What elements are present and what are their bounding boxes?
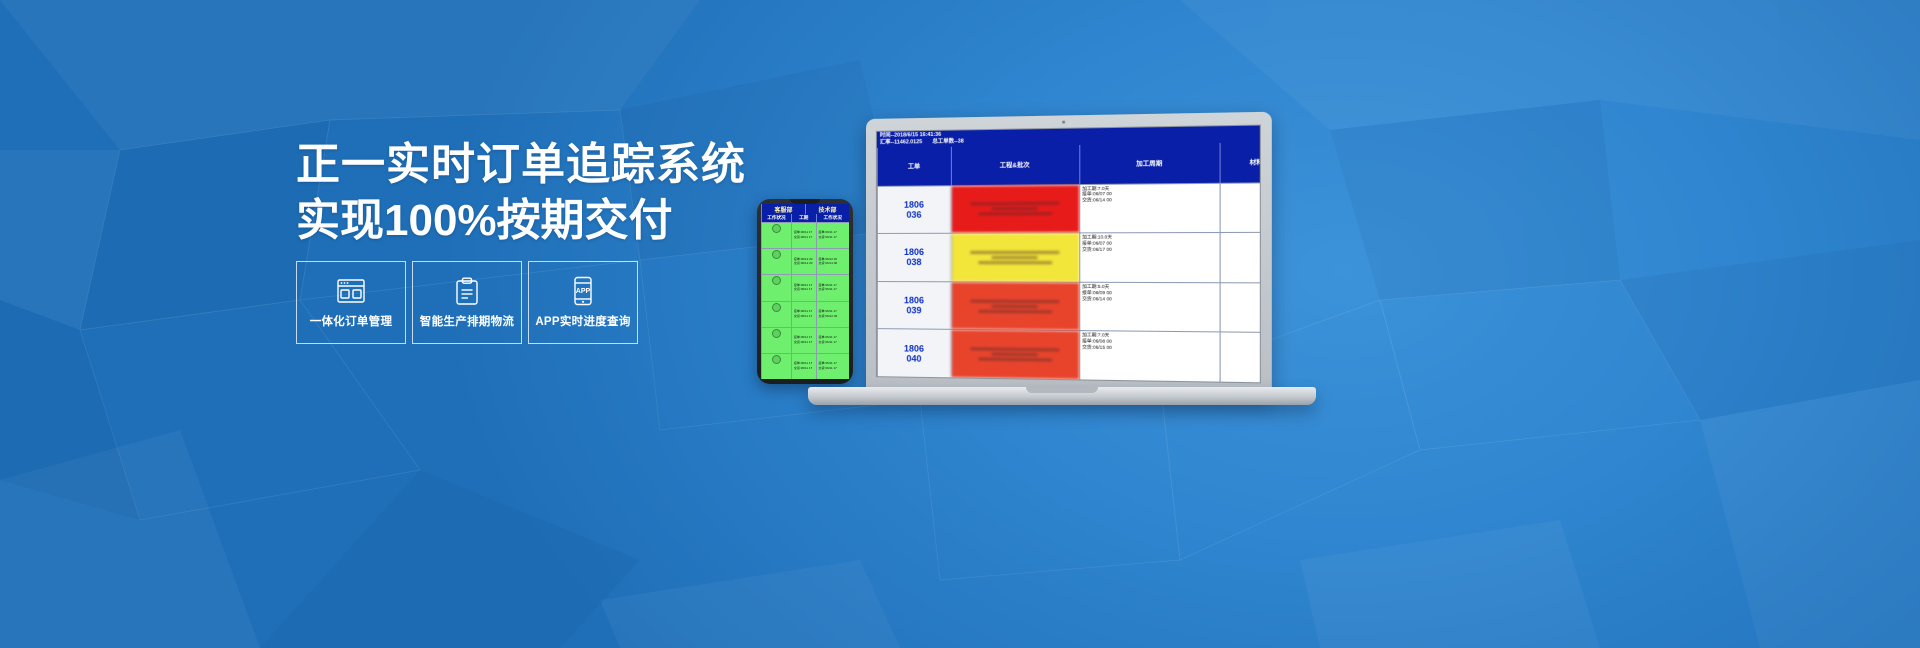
- phone-status2-line-2: 交货:06/11 17: [819, 367, 837, 371]
- phone-subcol-2: 工期: [791, 214, 816, 222]
- phone-status2-line-2: 交货:06/11 17: [819, 236, 837, 240]
- status-dot-green: [772, 329, 781, 338]
- phone-chassis: 客服部技术部工作状况工期工作状况接单:06/11 17交货:06/11 17接单…: [757, 199, 853, 384]
- list-item[interactable]: 接单:06/11 17交货:06/11 17接单:06/11 17交货:06/1…: [761, 274, 849, 300]
- material-cell[interactable]: [1220, 233, 1261, 282]
- page-subtitle: 实现100%按期交付: [296, 193, 716, 249]
- feature-card-app-progress[interactable]: APP APP实时进度查询: [528, 261, 638, 344]
- feature-list: 一体化订单管理 智能生产排期物流 APP APP实时进度查询: [296, 261, 638, 344]
- material-cell[interactable]: [1220, 333, 1261, 383]
- phone-row-group: 接单:06/11 17交货:06/11 17接单:06/11 17交货:06/1…: [761, 222, 849, 379]
- order-number-cell[interactable]: 1806039: [877, 282, 951, 329]
- phone-erp-table[interactable]: 客服部技术部工作状况工期工作状况接单:06/11 17交货:06/11 17接单…: [761, 204, 849, 379]
- erp-col-材料: 材料: [1220, 141, 1261, 182]
- phone-status-cell-1[interactable]: [761, 328, 791, 353]
- erp-column-header-row: 工单工程&批次加工周期材料工期工作状况工期工作状况工期工作状况工期工作状况工期工…: [877, 142, 1260, 185]
- material-cell[interactable]: [1220, 183, 1261, 232]
- phone-dept-header-2: 技术部: [805, 204, 849, 214]
- phone-status-cell-1[interactable]: [761, 223, 791, 248]
- status-dot-green: [772, 224, 781, 233]
- hero-copy: 正一实时订单追踪系统 实现100%按期交付: [296, 137, 716, 249]
- phone-status-cell-2[interactable]: 接单:06/12 20交货:06/14 08: [816, 249, 849, 274]
- erp-col-加工周期: 加工周期: [1079, 142, 1220, 183]
- processing-cycle-cell[interactable]: 加工期:7.0天接单:06/07 00交货:06/14 00: [1079, 183, 1220, 232]
- order-number-bottom: 040: [906, 353, 921, 363]
- phone-status-line-2: 交货:06/12 20: [794, 262, 813, 266]
- feature-card-production-scheduling[interactable]: 智能生产排期物流: [412, 261, 522, 344]
- list-item[interactable]: 接单:06/11 17交货:06/11 17接单:06/11 17交货:06/1…: [761, 327, 849, 353]
- feature-label: 一体化订单管理: [310, 313, 393, 329]
- phone-term-cell[interactable]: 接单:06/11 17交货:06/11 17: [791, 328, 816, 353]
- laptop-mockup: 时间--2018/6/15 16:41:36汇率--11462.0125总工单数…: [866, 119, 1316, 419]
- processing-cycle-cell[interactable]: 加工期:7.0天接单:06/08 00交货:06/15 00: [1079, 331, 1220, 381]
- webcam-icon: [1062, 121, 1065, 124]
- phone-status-line-2: 交货:06/11 17: [794, 288, 812, 292]
- order-number-bottom: 039: [906, 305, 921, 315]
- cycle-line-3: 交货:06/15 00: [1082, 345, 1112, 352]
- phone-status-line-2: 交货:06/11 17: [794, 367, 812, 371]
- phone-status2-line-2: 交货:06/11 17: [819, 341, 837, 345]
- phone-status-cell-2[interactable]: 接单:06/11 17交货:06/12 09: [816, 302, 849, 327]
- processing-cycle-cell[interactable]: 加工期:10.0天接单:06/07 00交货:06/17 00: [1079, 233, 1220, 282]
- feature-label: 智能生产排期物流: [420, 313, 514, 329]
- phone-subcol-3: 工作状况: [816, 214, 849, 222]
- project-batch-cell[interactable]: [950, 234, 1078, 282]
- erp-col-工程&批次: 工程&批次: [950, 144, 1078, 184]
- feature-label: APP实时进度查询: [535, 313, 630, 329]
- phone-status-line-2: 交货:06/11 17: [794, 236, 812, 240]
- cycle-line-3: 交货:06/14 00: [1082, 296, 1112, 302]
- phone-subcol-1: 工作状况: [761, 214, 791, 222]
- dashboard-icon: [336, 276, 366, 306]
- phone-mockup: 客服部技术部工作状况工期工作状况接单:06/11 17交货:06/11 17接单…: [757, 199, 853, 384]
- table-row[interactable]: 1806036加工期:7.0天接单:06/07 00交货:06/14 00接单:…: [877, 182, 1260, 233]
- phone-status-cell-2[interactable]: 接单:06/11 17交货:06/11 17: [816, 328, 849, 353]
- phone-screen[interactable]: 客服部技术部工作状况工期工作状况接单:06/11 17交货:06/11 17接单…: [761, 204, 849, 379]
- mobile-app-icon: APP: [572, 276, 594, 306]
- phone-notch: [790, 199, 820, 204]
- phone-term-cell[interactable]: 接单:06/12 20交货:06/12 20: [791, 249, 816, 274]
- phone-term-cell[interactable]: 接单:06/11 17交货:06/11 17: [791, 275, 816, 300]
- erp-row-group: 1806036加工期:7.0天接单:06/07 00交货:06/14 00接单:…: [877, 182, 1260, 382]
- table-row[interactable]: 1806038加工期:10.0天接单:06/07 00交货:06/17 00接单…: [877, 232, 1260, 282]
- cycle-line-3: 交货:06/14 00: [1082, 198, 1112, 204]
- phone-term-cell[interactable]: 接单:06/11 17交货:06/11 17: [791, 302, 816, 327]
- laptop-base: [808, 387, 1316, 405]
- cycle-line-3: 交货:06/17 00: [1082, 247, 1112, 253]
- erp-order-tracking-table[interactable]: 时间--2018/6/15 16:41:36汇率--11462.0125总工单数…: [877, 126, 1260, 383]
- phone-status2-line-2: 交货:06/11 17: [819, 288, 837, 292]
- table-row[interactable]: 1806039加工期:5.0天接单:06/09 00交货:06/14 00接单:…: [877, 281, 1260, 332]
- clipboard-icon: [454, 276, 480, 306]
- status-dot-green: [772, 276, 781, 285]
- laptop-lid: 时间--2018/6/15 16:41:36汇率--11462.0125总工单数…: [866, 112, 1272, 399]
- order-number-cell[interactable]: 1806036: [877, 186, 951, 233]
- order-number-bottom: 036: [906, 209, 921, 219]
- order-number-top: 1806: [904, 343, 924, 353]
- list-item[interactable]: 接单:06/12 20交货:06/12 20接单:06/12 20交货:06/1…: [761, 248, 849, 274]
- project-batch-cell[interactable]: [950, 185, 1078, 233]
- erp-col-工单: 工单: [877, 146, 951, 185]
- status-dot-green: [772, 303, 781, 312]
- material-cell[interactable]: [1220, 283, 1261, 333]
- feature-card-order-management[interactable]: 一体化订单管理: [296, 261, 406, 344]
- svg-text:APP: APP: [576, 288, 591, 295]
- phone-status-cell-2[interactable]: 接单:06/11 17交货:06/11 17: [816, 223, 849, 248]
- phone-term-cell[interactable]: 接单:06/11 17交货:06/11 17: [791, 223, 816, 248]
- order-number-cell[interactable]: 1806038: [877, 234, 951, 281]
- erp-rate-label: 汇率--11462.0125: [880, 139, 922, 146]
- order-number-top: 1806: [904, 247, 924, 257]
- phone-dept-header-1: 客服部: [761, 204, 805, 214]
- order-number-top: 1806: [904, 199, 924, 209]
- phone-status-line-2: 交货:06/11 17: [794, 315, 812, 319]
- erp-total-orders-label: 总工单数--38: [932, 138, 963, 145]
- phone-status-cell-1[interactable]: [761, 249, 791, 274]
- status-dot-green: [772, 355, 781, 364]
- phone-status-cell-1[interactable]: [761, 302, 791, 327]
- phone-status2-line-2: 交货:06/12 09: [819, 315, 838, 319]
- trackpad-notch: [1026, 387, 1098, 393]
- project-batch-cell[interactable]: [950, 282, 1078, 330]
- phone-status2-line-2: 交货:06/14 08: [819, 262, 838, 266]
- laptop-screen[interactable]: 时间--2018/6/15 16:41:36汇率--11462.0125总工单数…: [876, 125, 1261, 384]
- table-row[interactable]: 1806040加工期:7.0天接单:06/08 00交货:06/15 00空 1…: [877, 328, 1260, 382]
- list-item[interactable]: 接单:06/11 17交货:06/11 17接单:06/11 17交货:06/1…: [761, 353, 849, 379]
- order-number-bottom: 038: [906, 257, 921, 267]
- order-number-top: 1806: [904, 295, 924, 305]
- phone-erp-dept-bar: 客服部技术部: [761, 204, 849, 214]
- phone-column-header-row: 工作状况工期工作状况: [761, 214, 849, 222]
- phone-status-cell-2[interactable]: 接单:06/11 17交货:06/11 17: [816, 354, 849, 379]
- list-item[interactable]: 接单:06/11 17交货:06/11 17接单:06/11 17交货:06/1…: [761, 222, 849, 248]
- status-dot-green: [772, 250, 781, 259]
- page-title: 正一实时订单追踪系统: [296, 137, 716, 193]
- phone-status-cell-1[interactable]: [761, 275, 791, 300]
- processing-cycle-cell[interactable]: 加工期:5.0天接单:06/09 00交货:06/14 00: [1079, 283, 1220, 332]
- phone-status-line-2: 交货:06/11 17: [794, 341, 812, 345]
- list-item[interactable]: 接单:06/11 17交货:06/11 17接单:06/11 17交货:06/1…: [761, 301, 849, 327]
- order-number-cell[interactable]: 1806040: [877, 329, 951, 377]
- project-batch-cell[interactable]: [950, 330, 1078, 379]
- phone-term-cell[interactable]: 接单:06/11 17交货:06/11 17: [791, 354, 816, 379]
- phone-status-cell-1[interactable]: [761, 354, 791, 379]
- phone-status-cell-2[interactable]: 接单:06/11 17交货:06/11 17: [816, 275, 849, 300]
